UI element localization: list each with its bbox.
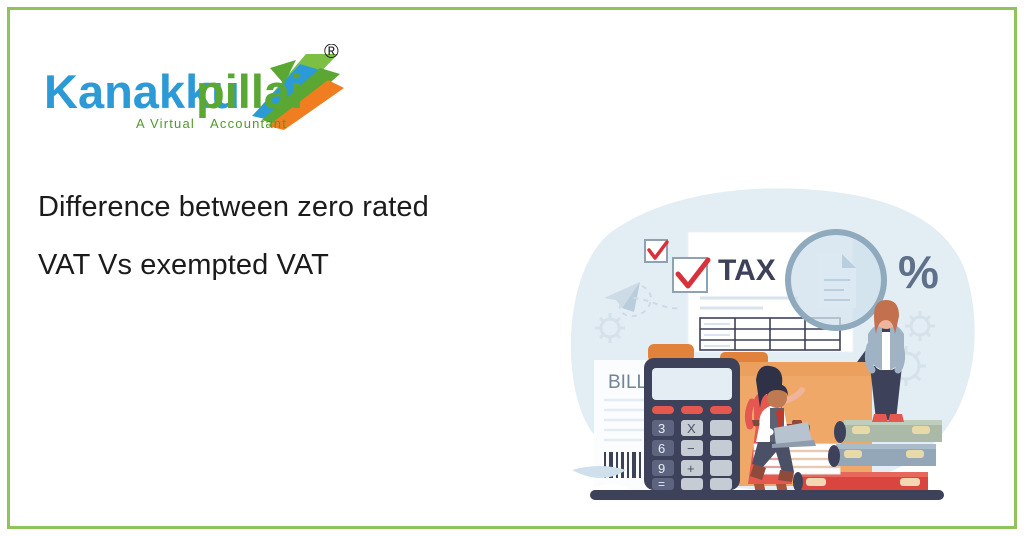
ground-line: [590, 490, 944, 500]
calc-key-equals: =: [658, 477, 665, 491]
page-title-line-1: Difference between zero rated: [38, 178, 558, 236]
calc-key-plus: +: [687, 461, 695, 476]
page-title: Difference between zero rated VAT Vs exe…: [38, 178, 558, 294]
calc-key-6: 6: [658, 441, 665, 456]
calculator-keys: 3 X 6 − 9 + =: [652, 420, 732, 491]
registered-trademark-icon: ®: [324, 44, 339, 63]
page-title-line-2: VAT Vs exempted VAT: [38, 236, 558, 294]
illustration-graphic: TAX: [548, 176, 988, 512]
checkbox-large-checked: [673, 258, 708, 292]
logo-tagline-virtual: A Virtual: [136, 116, 195, 131]
percent-sign-label: %: [898, 246, 939, 298]
logo-tagline-accountant: Accountant: [210, 116, 287, 131]
checkbox-small-checked: [645, 240, 667, 262]
calc-key-minus: −: [687, 441, 695, 456]
logo-wordmark-pillai: pillai: [196, 65, 303, 118]
calculator-icon: 3 X 6 − 9 + =: [644, 358, 740, 491]
calc-key-3: 3: [658, 421, 665, 436]
tax-audit-illustration: TAX: [548, 176, 988, 512]
bill-label: BILL: [608, 372, 647, 393]
company-logo[interactable]: .wm{font-family:"Liberation Sans", sans-…: [44, 44, 354, 136]
poster-canvas: .wm{font-family:"Liberation Sans", sans-…: [0, 0, 1024, 536]
tax-label: TAX: [718, 254, 776, 287]
logo-graphic: .wm{font-family:"Liberation Sans", sans-…: [44, 44, 354, 136]
calc-key-9: 9: [658, 461, 665, 476]
calc-key-x: X: [687, 421, 696, 436]
